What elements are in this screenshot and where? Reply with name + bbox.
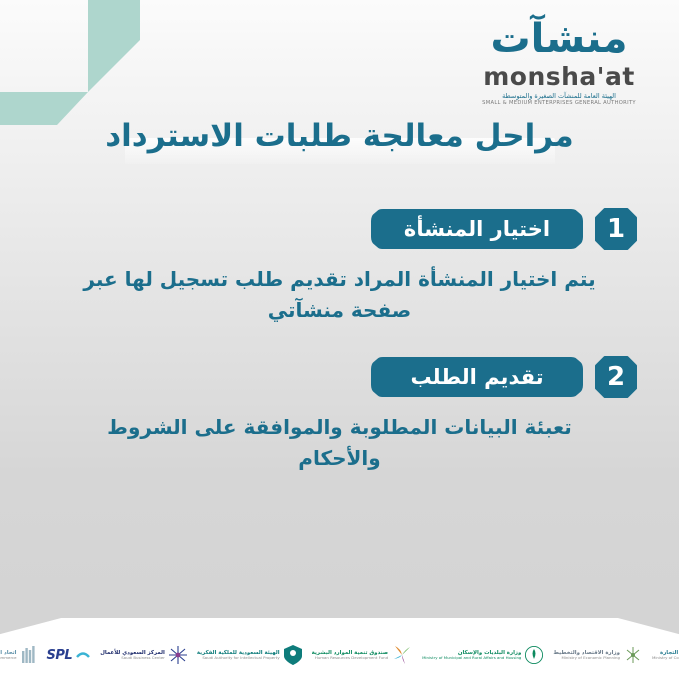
mep-label: وزارة الاقتصاد والتخطيط Ministry of Econ… bbox=[553, 650, 620, 661]
step-item: 2 تقديم الطلب تعبئة البيانات المطلوبة وا… bbox=[0, 356, 679, 474]
step-header: 1 اختيار المنشأة bbox=[0, 208, 679, 250]
step-number-badge: 2 bbox=[595, 356, 637, 398]
logo-ministry-municipal-rural-housing: وزارة البلديات والإسكان Ministry of Muni… bbox=[422, 645, 544, 665]
step-description: تعبئة البيانات المطلوبة والموافقة على ال… bbox=[0, 412, 679, 474]
logo-ministry-commerce: وزارة التجارة Ministry of Commerce bbox=[652, 644, 679, 666]
brand-subtitle-english: Small & Medium Enterprises General Autho… bbox=[459, 101, 659, 106]
logo-spl: SPL bbox=[47, 647, 92, 663]
step-item: 1 اختيار المنشأة يتم اختيار المنشأة المر… bbox=[0, 208, 679, 326]
footer-logo-bar: اتحاد الغرف التجارية السعودية Federation… bbox=[0, 618, 679, 680]
mep-icon bbox=[623, 645, 643, 665]
page-title-wrap: مراحل معالجة طلبات الاسترداد bbox=[0, 118, 679, 154]
step-number-badge: 1 bbox=[595, 208, 637, 250]
commerce-label: وزارة التجارة Ministry of Commerce bbox=[652, 650, 679, 661]
logo-hrdf: صندوق تنمية الموارد البشرية Human Resour… bbox=[312, 644, 413, 666]
brand-subtitle-arabic: الهيئة العامة للمنشآت الصغيرة والمتوسطة bbox=[459, 93, 659, 100]
step-title-pill: تقديم الطلب bbox=[371, 357, 583, 397]
chambers-label: اتحاد الغرف التجارية السعودية Federation… bbox=[0, 650, 17, 661]
step-description: يتم اختيار المنشأة المراد تقديم طلب تسجي… bbox=[0, 264, 679, 326]
hrdf-icon bbox=[391, 644, 413, 666]
logo-saudi-business-center: المركز السعودي للأعمال Saudi Business Ce… bbox=[100, 645, 188, 665]
footer-logo-row: اتحاد الغرف التجارية السعودية Federation… bbox=[0, 638, 679, 672]
sip-label: الهيئة السعودية للملكية الفكرية Saudi Au… bbox=[197, 650, 280, 661]
monshaat-logo: منشآت monsha'at الهيئة العامة للمنشآت ال… bbox=[459, 16, 659, 106]
chambers-icon bbox=[20, 645, 38, 665]
infographic-canvas: منشآت monsha'at الهيئة العامة للمنشآت ال… bbox=[0, 0, 679, 680]
brand-arabic-wordmark: منشآت bbox=[459, 16, 659, 62]
corner-decoration bbox=[0, 0, 165, 125]
momrah-icon bbox=[524, 645, 544, 665]
sip-shield-icon bbox=[283, 644, 303, 666]
spl-wordmark: SPL bbox=[47, 648, 73, 663]
logo-federation-saudi-chambers: اتحاد الغرف التجارية السعودية Federation… bbox=[0, 645, 38, 665]
spl-icon bbox=[75, 647, 91, 663]
step-title-pill: اختيار المنشأة bbox=[371, 209, 583, 249]
page-title: مراحل معالجة طلبات الاسترداد bbox=[0, 118, 679, 154]
business-center-label: المركز السعودي للأعمال Saudi Business Ce… bbox=[100, 650, 165, 661]
brand-latin-wordmark: monsha'at bbox=[459, 64, 659, 89]
business-center-icon bbox=[168, 645, 188, 665]
hrdf-label: صندوق تنمية الموارد البشرية Human Resour… bbox=[312, 650, 388, 661]
steps-list: 1 اختيار المنشأة يتم اختيار المنشأة المر… bbox=[0, 208, 679, 504]
step-header: 2 تقديم الطلب bbox=[0, 356, 679, 398]
momrah-label: وزارة البلديات والإسكان Ministry of Muni… bbox=[422, 650, 521, 661]
logo-saudi-authority-intellectual-property: الهيئة السعودية للملكية الفكرية Saudi Au… bbox=[197, 644, 303, 666]
logo-ministry-economy-planning: وزارة الاقتصاد والتخطيط Ministry of Econ… bbox=[553, 645, 643, 665]
